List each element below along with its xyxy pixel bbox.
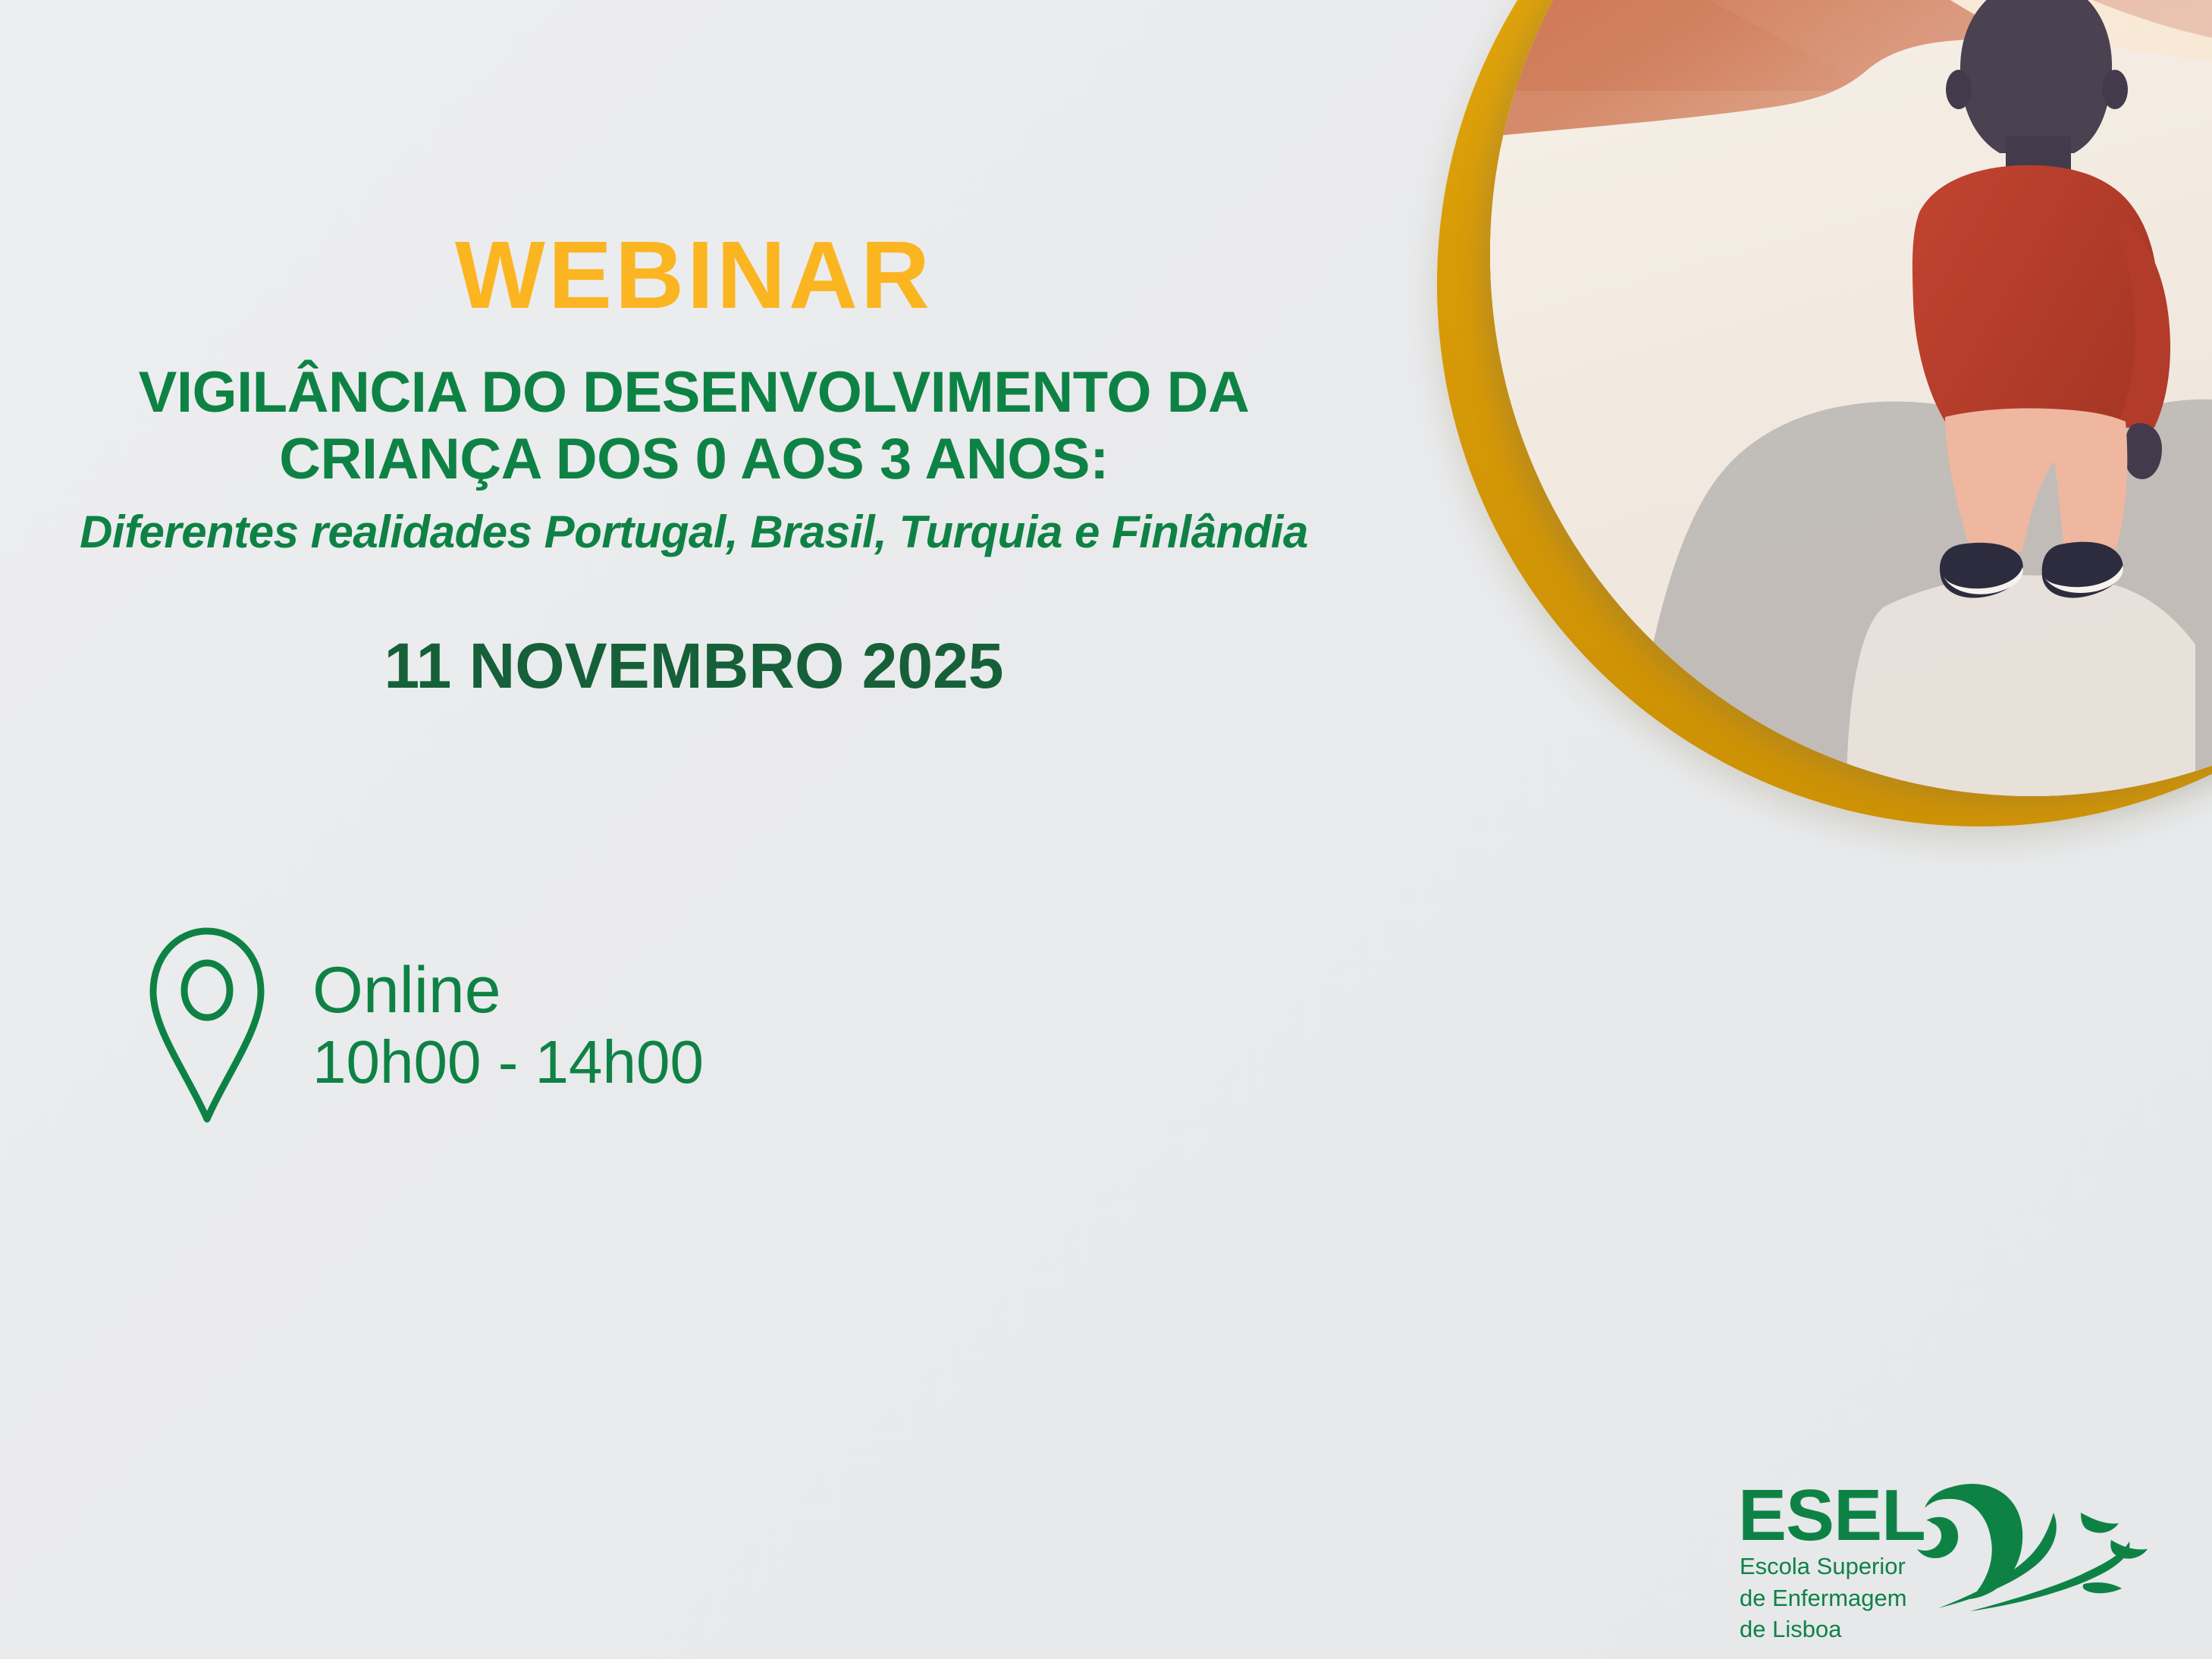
esel-acronym: ESEL [1738,1482,1925,1549]
esel-line-2: de Enfermagem [1740,1585,1925,1612]
esel-line-3: de Lisboa [1740,1616,1925,1643]
child-head [1960,0,2112,153]
location-hours: 10h00 - 14h00 [312,1027,704,1098]
wave-swirl-icon [1905,1478,2170,1614]
child-jacket [1912,165,2158,422]
subtitle: Diferentes realidades Portugal, Brasil, … [0,505,1388,560]
map-pin-icon [143,924,271,1128]
illustration-container [1437,0,2212,826]
desert-scene-svg [1490,0,2212,796]
esel-logo-text: ESEL Escola Superior de Enfermagem de Li… [1738,1482,1925,1643]
esel-line-1: Escola Superior [1740,1553,1925,1580]
headline-block: WEBINAR VIGILÂNCIA DO DESENVOLVIMENTO DA… [0,227,1388,703]
webinar-poster: WEBINAR VIGILÂNCIA DO DESENVOLVIMENTO DA… [0,0,2212,1659]
shadow-highlight [1846,575,2195,796]
title-line-2: CRIANÇA DOS 0 AOS 3 ANOS: [0,426,1388,493]
kicker-webinar: WEBINAR [0,227,1388,323]
child-ear-right [2102,70,2128,109]
location-text: Online 10h00 - 14h00 [312,954,704,1097]
location-row: Online 10h00 - 14h00 [143,924,704,1128]
esel-logo: ESEL Escola Superior de Enfermagem de Li… [1738,1482,2170,1626]
title-line-1: VIGILÂNCIA DO DESENVOLVIMENTO DA [0,359,1388,426]
child-ear-left [1946,70,1972,109]
event-date: 11 NOVEMBRO 2025 [0,629,1388,703]
child-walking-in-desert-illustration [1490,0,2212,796]
location-primary: Online [312,954,704,1027]
